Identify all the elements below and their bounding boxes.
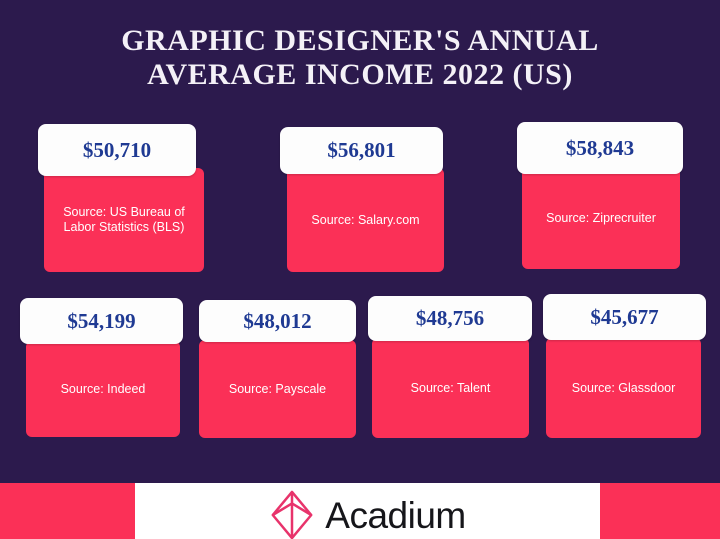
brand-name: Acadium: [325, 497, 465, 534]
stat-card-value-payscale: $48,012: [199, 300, 356, 342]
footer-brand-panel: Acadium: [135, 483, 600, 539]
stat-card-source-glassdoor: Source: Glassdoor: [546, 338, 701, 438]
acadium-diamond-icon: [269, 490, 315, 539]
stat-card-value-glassdoor: $45,677: [543, 294, 706, 340]
title-line-2: AVERAGE INCOME 2022 (US): [0, 58, 720, 92]
stat-card-source-bls: Source: US Bureau of Labor Statistics (B…: [44, 168, 204, 272]
stat-card-value-ziprecruiter: $58,843: [517, 122, 683, 174]
brand-logo: Acadium: [269, 490, 465, 539]
stat-card-source-payscale: Source: Payscale: [199, 340, 356, 438]
stat-card-value-bls: $50,710: [38, 124, 196, 176]
title-line-1: GRAPHIC DESIGNER'S ANNUAL: [0, 24, 720, 58]
stat-card-source-salary-com: Source: Salary.com: [287, 168, 444, 272]
infographic-canvas: GRAPHIC DESIGNER'S ANNUAL AVERAGE INCOME…: [0, 0, 720, 539]
footer-bar: Acadium: [0, 483, 720, 539]
stat-card-source-ziprecruiter: Source: Ziprecruiter: [522, 168, 680, 269]
stat-card-source-talent: Source: Talent: [372, 338, 529, 438]
stat-card-source-indeed: Source: Indeed: [26, 341, 180, 437]
stat-card-value-indeed: $54,199: [20, 298, 183, 344]
page-title: GRAPHIC DESIGNER'S ANNUAL AVERAGE INCOME…: [0, 24, 720, 92]
stat-card-value-talent: $48,756: [368, 296, 532, 341]
stat-card-value-salary-com: $56,801: [280, 127, 443, 174]
